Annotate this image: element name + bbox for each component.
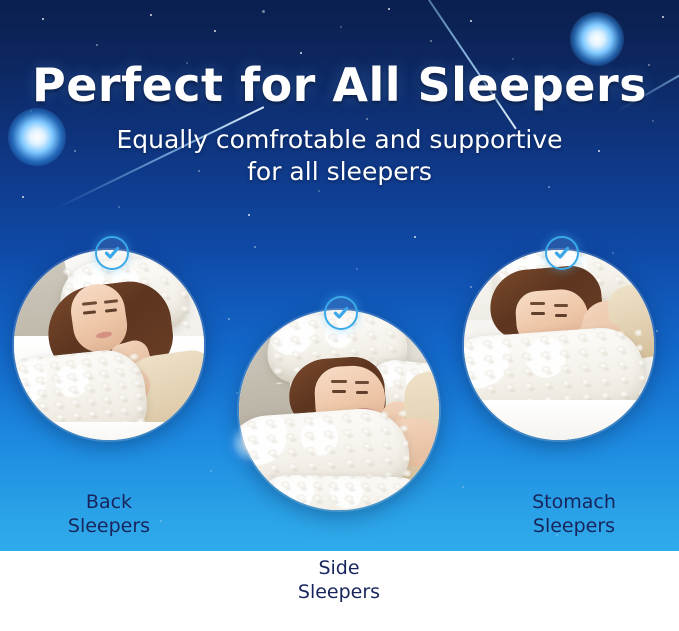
panel-photo-back <box>14 250 204 440</box>
sleeper-label-stomach: Stomach Sleepers <box>474 490 674 538</box>
label-line-2: Sleepers <box>474 514 674 538</box>
page-title: Perfect for All Sleepers <box>0 58 679 112</box>
panel-photo-side <box>239 310 439 510</box>
label-line-2: Sleepers <box>239 580 439 604</box>
subtitle-line-1: Equally comfrotable and supportive <box>0 124 679 156</box>
label-line-2: Sleepers <box>9 514 209 538</box>
check-badge-back <box>95 236 129 270</box>
check-badge-side <box>324 296 358 330</box>
check-badge-stomach <box>545 236 579 270</box>
label-line-1: Back <box>9 490 209 514</box>
page-subtitle: Equally comfrotable and supportive for a… <box>0 124 679 188</box>
sleeper-label-back: Back Sleepers <box>9 490 209 538</box>
label-line-1: Stomach <box>474 490 674 514</box>
subtitle-line-2: for all sleepers <box>0 156 679 188</box>
product-infographic: Perfect for All Sleepers Equally comfrot… <box>0 0 679 631</box>
panel-photo-stomach <box>464 250 654 440</box>
sleeper-label-side: Side Sleepers <box>239 556 439 604</box>
label-line-1: Side <box>239 556 439 580</box>
